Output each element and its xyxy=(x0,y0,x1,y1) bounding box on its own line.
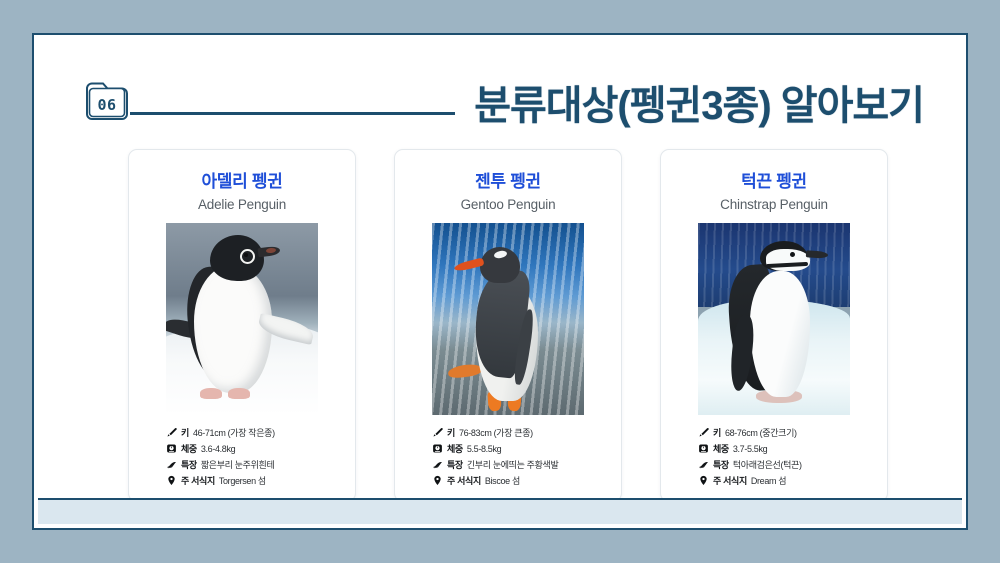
spec-label: 키 xyxy=(713,427,721,439)
card-title-ko: 젠투 펭귄 xyxy=(475,167,541,192)
section-number: 06 xyxy=(84,79,130,123)
penguin-card-list: 아델리 펭귄 Adelie Penguin xyxy=(128,149,888,502)
spec-label: 키 xyxy=(181,427,189,439)
scale-icon xyxy=(166,443,177,454)
spec-row-weight: 체중 3.7-5.5kg xyxy=(698,443,850,455)
spec-value: Dream 섬 xyxy=(751,475,786,487)
chinstrap-penguin-photo xyxy=(698,223,850,415)
spec-label: 특장 xyxy=(181,459,197,471)
section-number-badge: 06 xyxy=(84,79,130,123)
gentoo-penguin-photo xyxy=(432,223,584,415)
spec-row-weight: 체중 3.6-4.8kg xyxy=(166,443,318,455)
card-title-ko: 아델리 펭귄 xyxy=(201,167,282,192)
card-title-en: Chinstrap Penguin xyxy=(720,197,828,212)
spec-value: 76-83cm (가장 큰종) xyxy=(459,427,533,439)
slide-canvas: 06 분류대상(펭귄3종) 알아보기 아델리 펭귄 Adelie Penguin xyxy=(38,39,962,524)
spec-value: 5.5-8.5kg xyxy=(467,443,501,455)
spec-value: 3.7-5.5kg xyxy=(733,443,767,455)
spec-list: 키 76-83cm (가장 큰종) 체중 5.5-8.5kg xyxy=(432,427,584,487)
spec-value: 46-71cm (가장 작은종) xyxy=(193,427,275,439)
spec-row-feature: 특장 턱아래검은선(턱끈) xyxy=(698,459,850,471)
card-title-ko: 턱끈 펭귄 xyxy=(741,167,807,192)
feature-icon xyxy=(166,459,177,470)
feature-icon xyxy=(432,459,443,470)
spec-row-habitat: 주 서식지 Dream 섬 xyxy=(698,475,850,487)
slide-footer-band xyxy=(38,498,962,524)
spec-value: 짧은부리 눈주위흰테 xyxy=(201,459,275,471)
page-title: 분류대상(펭귄3종) 알아보기 xyxy=(474,73,924,131)
header-divider-line xyxy=(130,112,455,115)
adelie-penguin-photo xyxy=(166,223,318,415)
spec-list: 키 68-76cm (중간크기) 체중 3.7-5.5kg xyxy=(698,427,850,487)
ruler-icon xyxy=(432,427,443,438)
slide-header: 06 분류대상(펭귄3종) 알아보기 xyxy=(38,79,962,141)
spec-row-feature: 특장 짧은부리 눈주위흰테 xyxy=(166,459,318,471)
ruler-icon xyxy=(698,427,709,438)
slide: 06 분류대상(펭귄3종) 알아보기 아델리 펭귄 Adelie Penguin xyxy=(32,33,968,530)
spec-value: Torgersen 섬 xyxy=(219,475,266,487)
spec-row-height: 키 46-71cm (가장 작은종) xyxy=(166,427,318,439)
card-title-en: Adelie Penguin xyxy=(198,197,286,212)
spec-label: 특장 xyxy=(713,459,729,471)
spec-row-habitat: 주 서식지 Torgersen 섬 xyxy=(166,475,318,487)
ruler-icon xyxy=(166,427,177,438)
penguin-card-adelie[interactable]: 아델리 펭귄 Adelie Penguin xyxy=(128,149,356,502)
spec-row-weight: 체중 5.5-8.5kg xyxy=(432,443,584,455)
spec-row-height: 키 68-76cm (중간크기) xyxy=(698,427,850,439)
spec-row-habitat: 주 서식지 Biscoe 섬 xyxy=(432,475,584,487)
penguin-card-chinstrap[interactable]: 턱끈 펭귄 Chinstrap Penguin xyxy=(660,149,888,502)
penguin-card-gentoo[interactable]: 젠투 펭귄 Gentoo Penguin xyxy=(394,149,622,502)
spec-label: 체중 xyxy=(447,443,463,455)
scale-icon xyxy=(698,443,709,454)
feature-icon xyxy=(698,459,709,470)
spec-value: Biscoe 섬 xyxy=(485,475,520,487)
spec-label: 주 서식지 xyxy=(181,475,215,487)
spec-row-height: 키 76-83cm (가장 큰종) xyxy=(432,427,584,439)
scale-icon xyxy=(432,443,443,454)
pin-icon xyxy=(166,475,177,486)
spec-value: 턱아래검은선(턱끈) xyxy=(733,459,802,471)
spec-label: 주 서식지 xyxy=(447,475,481,487)
spec-value: 3.6-4.8kg xyxy=(201,443,235,455)
card-title-en: Gentoo Penguin xyxy=(461,197,556,212)
spec-list: 키 46-71cm (가장 작은종) 체중 3.6-4.8kg xyxy=(166,427,318,487)
spec-row-feature: 특장 긴부리 눈에띄는 주황색발 xyxy=(432,459,584,471)
spec-label: 체중 xyxy=(181,443,197,455)
pin-icon xyxy=(698,475,709,486)
pin-icon xyxy=(432,475,443,486)
spec-label: 특장 xyxy=(447,459,463,471)
spec-label: 체중 xyxy=(713,443,729,455)
spec-value: 긴부리 눈에띄는 주황색발 xyxy=(467,459,559,471)
spec-label: 키 xyxy=(447,427,455,439)
spec-value: 68-76cm (중간크기) xyxy=(725,427,797,439)
spec-label: 주 서식지 xyxy=(713,475,747,487)
